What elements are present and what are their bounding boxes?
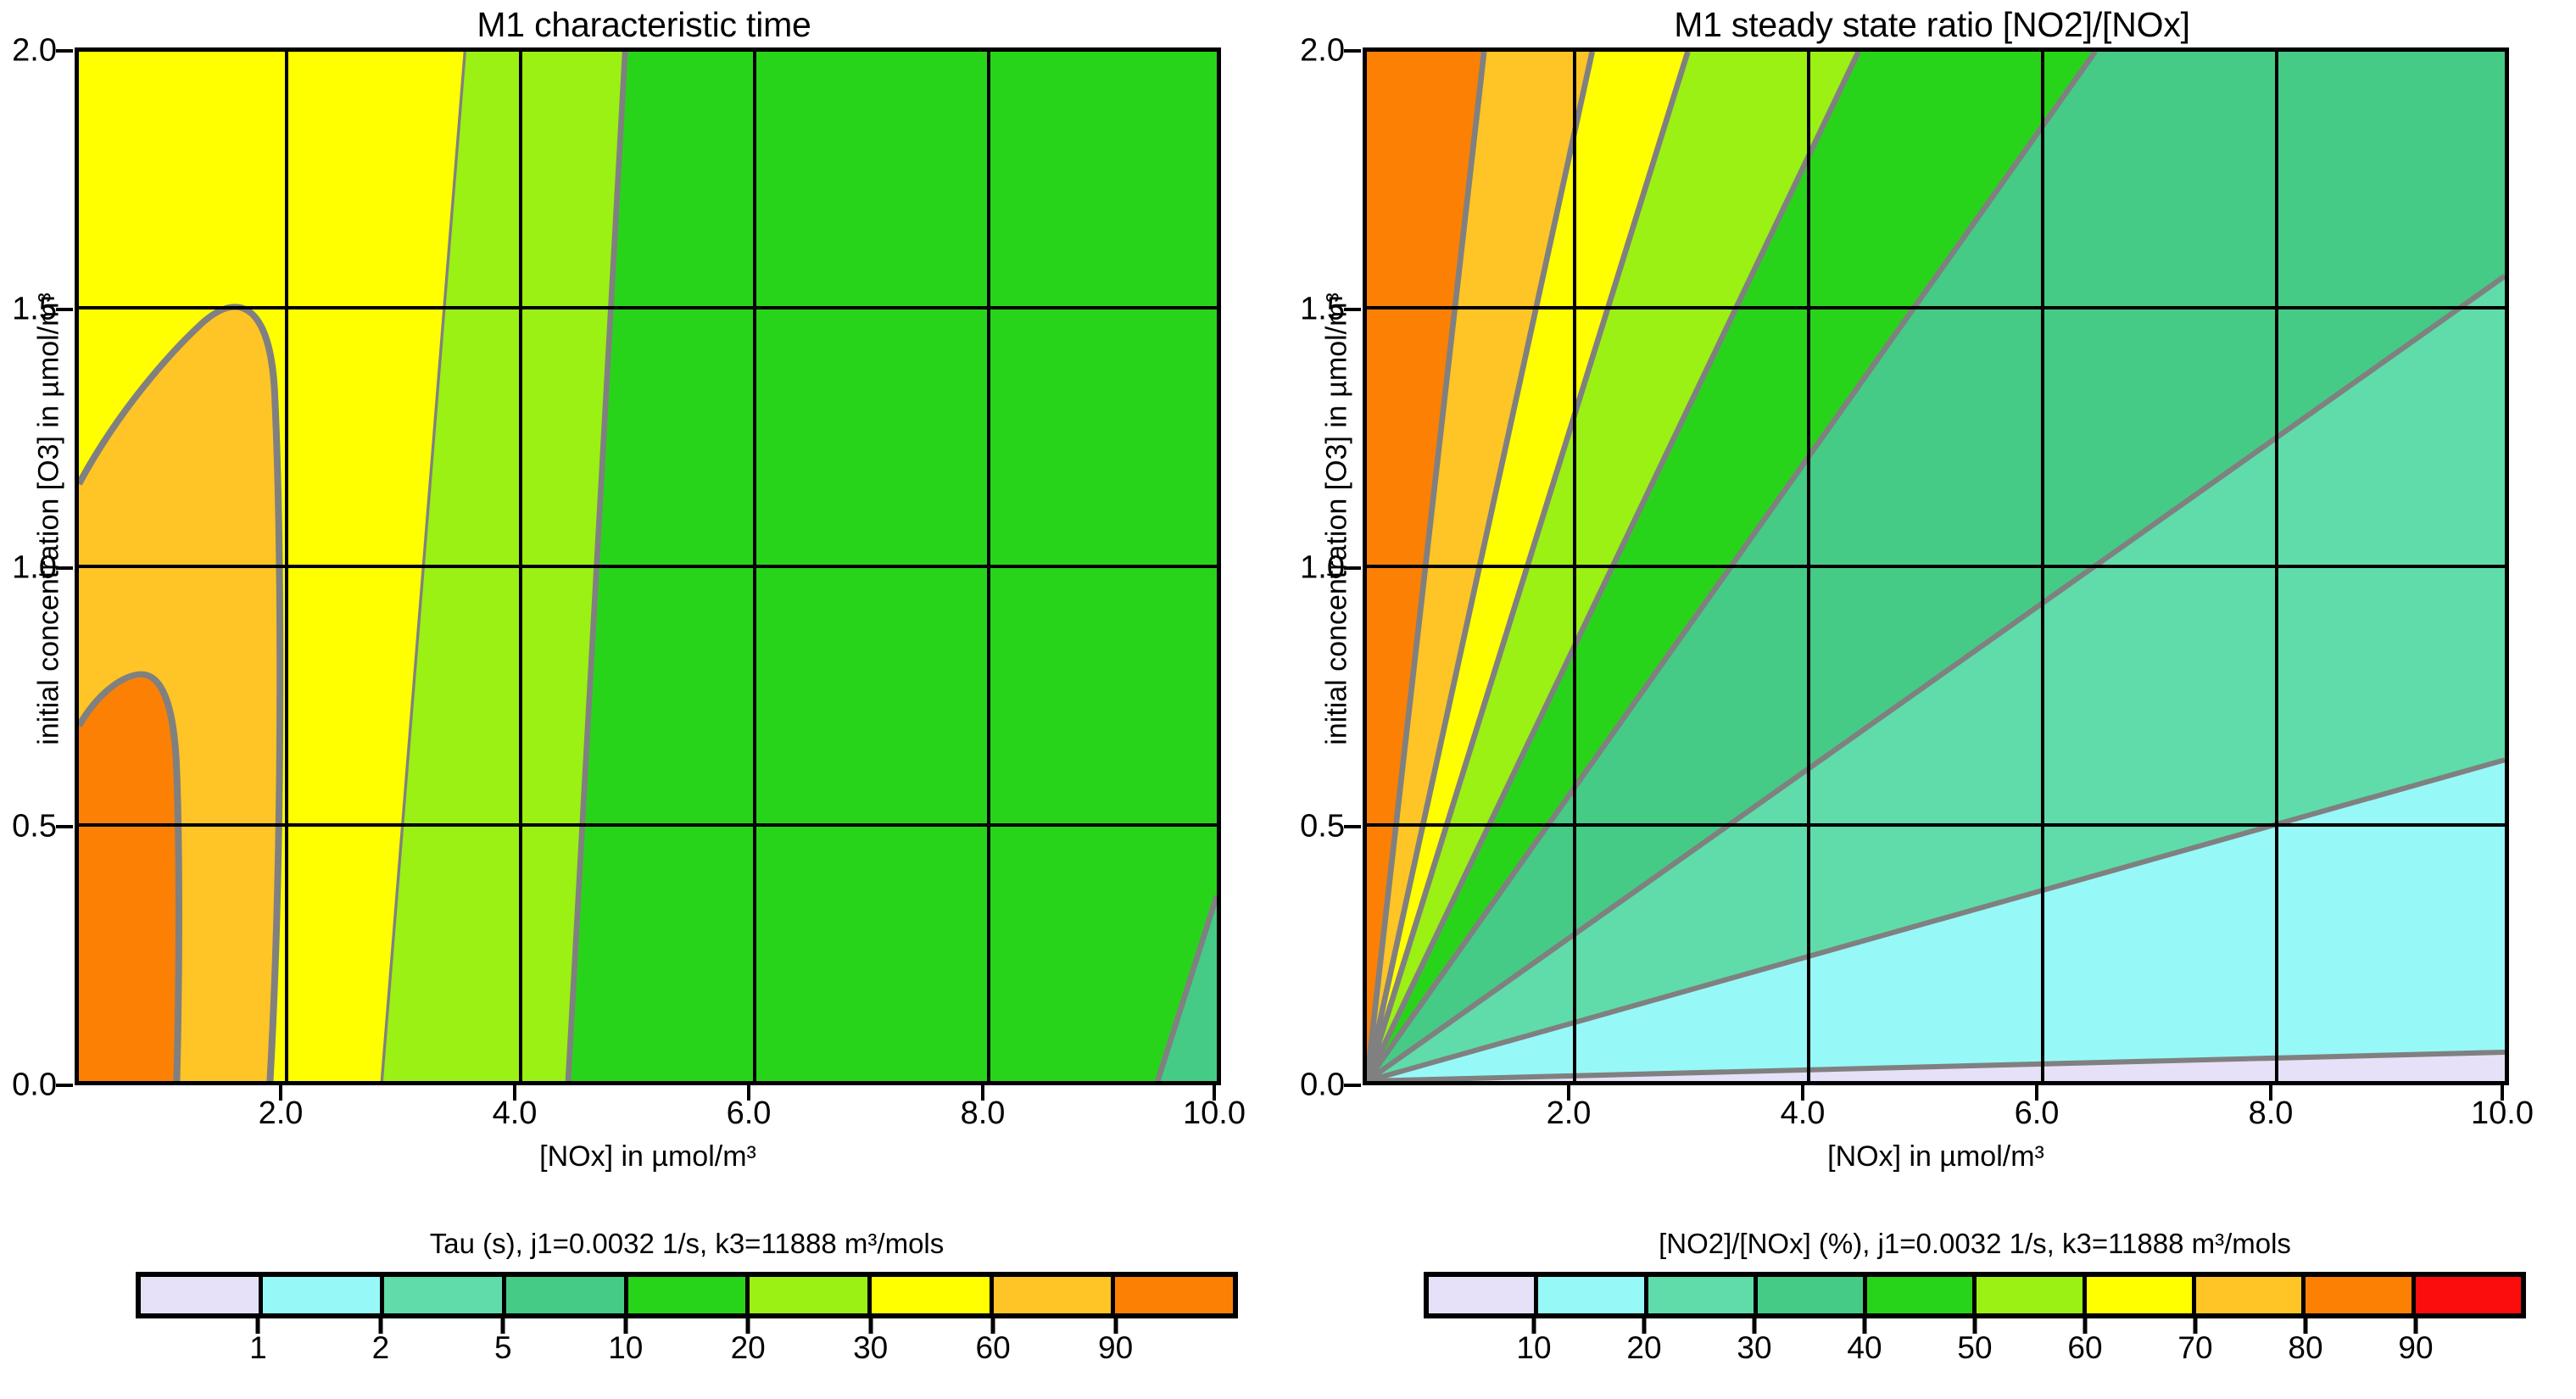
y-axis-label-right: initial concentration [O3] in µmol/m³ bbox=[1321, 222, 1354, 816]
colorbar-tick-label: 1 bbox=[249, 1330, 267, 1366]
colorbar-tick-label: 10 bbox=[608, 1330, 643, 1366]
colorbar-segment bbox=[384, 1277, 506, 1313]
x-axis-label-right: [NOx] in µmol/m³ bbox=[1363, 1140, 2509, 1173]
colorbar-ticks-left: 1 2 5 10 20 30 60 90 bbox=[136, 1318, 1238, 1369]
colorbar-bar-right bbox=[1424, 1272, 2526, 1318]
x-tick-label: 6.0 bbox=[727, 1095, 772, 1132]
colorbar-segment bbox=[2087, 1277, 2196, 1313]
x-tick-label: 4.0 bbox=[1781, 1095, 1826, 1132]
colorbar-tick-label: 40 bbox=[1847, 1330, 1882, 1366]
colorbar-tick-label: 20 bbox=[1626, 1330, 1661, 1366]
colorbar-tick-label: 60 bbox=[976, 1330, 1011, 1366]
colorbar-segment bbox=[2416, 1277, 2521, 1313]
contour-fill-left bbox=[79, 52, 1217, 1081]
colorbar-segment bbox=[1538, 1277, 1648, 1313]
panel-characteristic-time: M1 characteristic time bbox=[0, 0, 1288, 1399]
colorbar-segment bbox=[141, 1277, 263, 1313]
colorbar-segment bbox=[1977, 1277, 2086, 1313]
colorbar-tick-label: 20 bbox=[731, 1330, 766, 1366]
colorbar-segment bbox=[994, 1277, 1116, 1313]
colorbar-segment bbox=[506, 1277, 628, 1313]
x-tick-label: 8.0 bbox=[2249, 1095, 2294, 1132]
colorbar-tick-label: 5 bbox=[494, 1330, 512, 1366]
y-tickmark bbox=[1344, 49, 1361, 53]
gridline-vertical bbox=[2506, 52, 2509, 1081]
colorbar-tick-label: 80 bbox=[2288, 1330, 2322, 1366]
y-tick-label: 0.0 bbox=[1300, 1067, 1345, 1104]
x-tick-label: 2.0 bbox=[1547, 1095, 1592, 1132]
colorbar-title-right: [NO2]/[NOx] (%), j1=0.0032 1/s, k3=11888… bbox=[1424, 1228, 2526, 1260]
y-tick-label: 0.0 bbox=[12, 1067, 57, 1104]
colorbar-tick-label: 30 bbox=[1737, 1330, 1771, 1366]
colorbar-segment bbox=[263, 1277, 385, 1313]
colorbar-tick-label: 2 bbox=[372, 1330, 390, 1366]
y-tickmark bbox=[1344, 825, 1361, 828]
y-axis-label-left: initial concentration [O3] in µmol/m³ bbox=[33, 222, 66, 816]
x-tick-label: 6.0 bbox=[2015, 1095, 2060, 1132]
plot-area-right bbox=[1363, 47, 2509, 1085]
colorbar-tick-label: 50 bbox=[1957, 1330, 1992, 1366]
contour-fill-right bbox=[1367, 52, 2505, 1081]
y-tick-label: 2.0 bbox=[12, 33, 57, 70]
panel-steady-state-ratio: M1 steady state ratio [NO2]/[NOx] bbox=[1288, 0, 2576, 1399]
y-tick-label: 2.0 bbox=[1300, 33, 1345, 70]
colorbar-segment bbox=[2196, 1277, 2306, 1313]
colorbar-segment bbox=[1867, 1277, 1977, 1313]
colorbar-segment bbox=[1648, 1277, 1758, 1313]
colorbar-segment bbox=[2306, 1277, 2415, 1313]
panel-title-right: M1 steady state ratio [NO2]/[NOx] bbox=[1288, 5, 2576, 45]
colorbar-bar-left bbox=[136, 1272, 1238, 1318]
x-tick-label: 10.0 bbox=[1183, 1095, 1246, 1132]
colorbar-segment bbox=[750, 1277, 872, 1313]
colorbar-right: [NO2]/[NOx] (%), j1=0.0032 1/s, k3=11888… bbox=[1424, 1272, 2526, 1369]
colorbar-tick-label: 70 bbox=[2177, 1330, 2212, 1366]
colorbar-title-left: Tau (s), j1=0.0032 1/s, k3=11888 m³/mols bbox=[136, 1228, 1238, 1260]
colorbar-segment bbox=[628, 1277, 750, 1313]
y-tickmark bbox=[56, 825, 73, 828]
y-tickmark bbox=[56, 1084, 73, 1087]
gridline-vertical bbox=[1218, 52, 1221, 1081]
colorbar-segment bbox=[1115, 1277, 1233, 1313]
colorbar-tick-label: 90 bbox=[1098, 1330, 1133, 1366]
x-tick-label: 8.0 bbox=[961, 1095, 1006, 1132]
colorbar-tick-label: 10 bbox=[1516, 1330, 1551, 1366]
figure-root: M1 characteristic time bbox=[0, 0, 2576, 1399]
colorbar-tick-label: 60 bbox=[2067, 1330, 2102, 1366]
colorbar-ticks-right: 10 20 30 40 50 60 70 80 90 bbox=[1424, 1318, 2526, 1369]
plot-area-left bbox=[75, 47, 1221, 1085]
x-axis-label-left: [NOx] in µmol/m³ bbox=[75, 1140, 1221, 1173]
y-tickmark bbox=[56, 49, 73, 53]
colorbar-segment bbox=[1429, 1277, 1538, 1313]
colorbar-segment bbox=[872, 1277, 994, 1313]
colorbar-left: Tau (s), j1=0.0032 1/s, k3=11888 m³/mols… bbox=[136, 1272, 1238, 1369]
y-tickmark bbox=[1344, 1084, 1361, 1087]
panel-title-left: M1 characteristic time bbox=[0, 5, 1288, 45]
x-tick-label: 4.0 bbox=[493, 1095, 538, 1132]
x-tick-label: 10.0 bbox=[2471, 1095, 2534, 1132]
colorbar-segment bbox=[1758, 1277, 1867, 1313]
x-tick-label: 2.0 bbox=[259, 1095, 304, 1132]
colorbar-tick-label: 30 bbox=[853, 1330, 888, 1366]
colorbar-tick-label: 90 bbox=[2398, 1330, 2433, 1366]
